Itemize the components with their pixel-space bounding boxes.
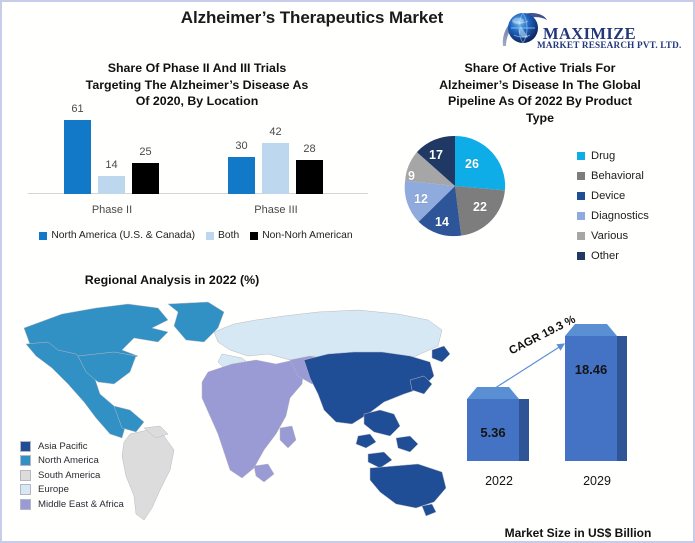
legend-swatch-icon (250, 232, 258, 240)
legend-label: Diagnostics (591, 210, 649, 222)
x-tick-phase3: Phase III (216, 204, 336, 216)
x-tick-phase2: Phase II (52, 204, 172, 216)
legend-item-various: Various (577, 226, 649, 246)
bar-value: 14 (92, 159, 132, 171)
pie-label-diagnostics: 12 (414, 192, 428, 206)
legend-label: Europe (38, 484, 69, 495)
bar-value: 25 (126, 146, 166, 158)
legend-item-behavioral: Behavioral (577, 166, 649, 186)
bar-value: 28 (290, 143, 330, 155)
legend-item-device: Device (577, 186, 649, 206)
pipeline-product-type-chart: Share Of Active Trials For Alzheimer’s D… (387, 60, 692, 250)
bar-phase2-non-north-american: 25 (132, 163, 159, 194)
legend-label: Various (591, 230, 628, 242)
pie-label-behavioral: 22 (473, 200, 487, 214)
map-legend-item-asia-pacific: Asia Pacific (20, 439, 124, 454)
x-tick-2029: 2029 (557, 474, 637, 488)
legend-swatch-icon (39, 232, 47, 240)
brand-logo: MAXIMIZE MARKET RESEARCH PVT. LTD. (497, 6, 692, 54)
title-line: Share Of Phase II And III Trials (32, 60, 362, 77)
bar-value: 42 (256, 126, 296, 138)
legend-label: Drug (591, 150, 615, 162)
legend-swatch-icon (577, 212, 585, 220)
pie-svg (403, 134, 507, 238)
legend-swatch-icon (206, 232, 214, 240)
legend-swatch-icon (20, 499, 31, 510)
regional-analysis-title: Regional Analysis in 2022 (%) (32, 272, 312, 289)
bar-value-2022: 5.36 (458, 425, 528, 440)
bar-front-face (565, 336, 617, 461)
title-line: Alzheimer’s Disease In The Global (395, 77, 685, 94)
phase-chart-legend: North America (U.S. & Canada) Both Non-N… (26, 230, 366, 241)
bar-value-2029: 18.46 (556, 362, 626, 377)
legend-swatch-icon (20, 470, 31, 481)
bar-phase2-north-america: 61 (64, 120, 91, 194)
map-legend-item-south-america: South America (20, 468, 124, 483)
legend-item-north-america: North America (U.S. & Canada) (39, 230, 195, 241)
legend-item-drug: Drug (577, 146, 649, 166)
pie-label-other: 17 (429, 148, 443, 162)
legend-item-both: Both (206, 230, 239, 241)
pie-label-various: 9 (408, 169, 415, 183)
legend-item-non-north-american: Non-Norh American (250, 230, 352, 241)
market-size-chart: 5.36 2022 18.46 2029 (462, 332, 694, 542)
map-region-north-america (24, 302, 224, 438)
bar-value: 30 (222, 140, 262, 152)
map-region-south-america (122, 426, 174, 520)
page-title: Alzheimer’s Therapeutics Market (132, 8, 492, 28)
title-line: Targeting The Alzheimer’s Disease As (32, 77, 362, 94)
legend-swatch-icon (20, 455, 31, 466)
market-size-caption: Market Size in US$ Billion (462, 526, 694, 540)
map-legend-item-europe: Europe (20, 483, 124, 498)
legend-label: North America (U.S. & Canada) (51, 230, 195, 241)
bar-value: 61 (58, 103, 98, 115)
legend-item-diagnostics: Diagnostics (577, 206, 649, 226)
pie-label-device: 14 (435, 215, 449, 229)
legend-label: Middle East & Africa (38, 499, 124, 510)
bar-side-face (617, 336, 627, 461)
x-tick-2022: 2022 (459, 474, 539, 488)
infographic-canvas: Alzheimer’s Therapeutics Market (0, 0, 695, 543)
bar-phase3-non-north-american: 28 (296, 160, 323, 194)
legend-swatch-icon (20, 441, 31, 452)
title-line: Pipeline As Of 2022 By Product (395, 93, 685, 110)
pipeline-chart-legend: Drug Behavioral Device Diagnostics Vario… (577, 146, 649, 266)
bar-phase2-both: 14 (98, 176, 125, 194)
legend-label: Behavioral (591, 170, 644, 182)
title-line: Type (395, 110, 685, 127)
legend-swatch-icon (577, 232, 585, 240)
legend-label: South America (38, 470, 100, 481)
legend-swatch-icon (577, 252, 585, 260)
legend-label: Non-Norh American (262, 230, 352, 241)
legend-swatch-icon (20, 484, 31, 495)
map-legend-item-north-america: North America (20, 454, 124, 469)
pie-label-drug: 26 (465, 157, 479, 171)
phase-plot-area: 61 14 25 Phase II 30 42 28 (28, 120, 368, 220)
map-legend-item-middle-east-africa: Middle East & Africa (20, 497, 124, 512)
legend-label: Device (591, 190, 625, 202)
legend-swatch-icon (577, 172, 585, 180)
legend-label: Other (591, 250, 619, 262)
map-region-asia-pacific (304, 346, 450, 516)
pie-slice-drug (455, 136, 505, 190)
legend-swatch-icon (577, 192, 585, 200)
logo-tagline: MARKET RESEARCH PVT. LTD. (537, 40, 681, 50)
legend-label: Both (218, 230, 239, 241)
bar-top-face (467, 387, 519, 399)
map-legend: Asia Pacific North America South America… (20, 439, 124, 512)
pipeline-chart-title: Share Of Active Trials For Alzheimer’s D… (395, 60, 685, 126)
title-line: Share Of Active Trials For (395, 60, 685, 77)
legend-label: Asia Pacific (38, 441, 88, 452)
legend-label: North America (38, 455, 99, 466)
legend-item-other: Other (577, 246, 649, 266)
bar-phase3-both: 42 (262, 143, 289, 194)
phase-trials-chart: Share Of Phase II And III Trials Targeti… (20, 60, 372, 250)
legend-swatch-icon (577, 152, 585, 160)
pie-graphic: 26 22 14 12 9 17 (403, 134, 507, 238)
bar-phase3-north-america: 30 (228, 157, 255, 194)
